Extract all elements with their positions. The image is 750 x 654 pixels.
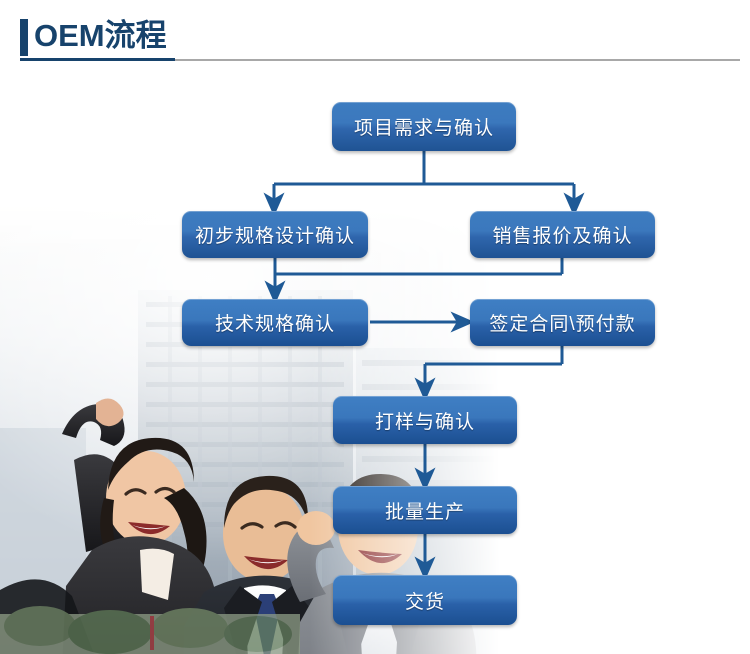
flow-node-technical-spec-confirm[interactable]: 技术规格确认 (182, 299, 368, 346)
flow-node-label: 打样与确认 (375, 407, 475, 434)
flow-node-label: 技术规格确认 (215, 309, 335, 336)
flow-node-label: 交货 (405, 587, 445, 614)
flow-node-label: 签定合同\预付款 (489, 309, 635, 336)
flow-node-label: 初步规格设计确认 (195, 221, 355, 248)
flow-node-preliminary-spec-design[interactable]: 初步规格设计确认 (182, 211, 368, 258)
page-title: OEM流程 (34, 16, 167, 56)
flow-node-label: 项目需求与确认 (354, 113, 494, 140)
header-rule-blue (20, 58, 175, 61)
flow-node-sampling-confirm[interactable]: 打样与确认 (333, 396, 517, 444)
flow-node-delivery[interactable]: 交货 (333, 575, 517, 625)
flow-node-sales-quotation[interactable]: 销售报价及确认 (470, 211, 655, 258)
flow-node-mass-production[interactable]: 批量生产 (333, 486, 517, 534)
section-header: OEM流程 (0, 0, 750, 70)
header-accent-bar (20, 19, 28, 56)
flow-node-contract-prepayment[interactable]: 签定合同\预付款 (470, 299, 655, 346)
header-rule-gray (175, 59, 740, 61)
flow-node-label: 批量生产 (385, 497, 465, 524)
flow-node-label: 销售报价及确认 (492, 221, 632, 248)
flow-node-project-requirements[interactable]: 项目需求与确认 (332, 102, 516, 151)
page-root: OEM流程 (0, 0, 750, 654)
